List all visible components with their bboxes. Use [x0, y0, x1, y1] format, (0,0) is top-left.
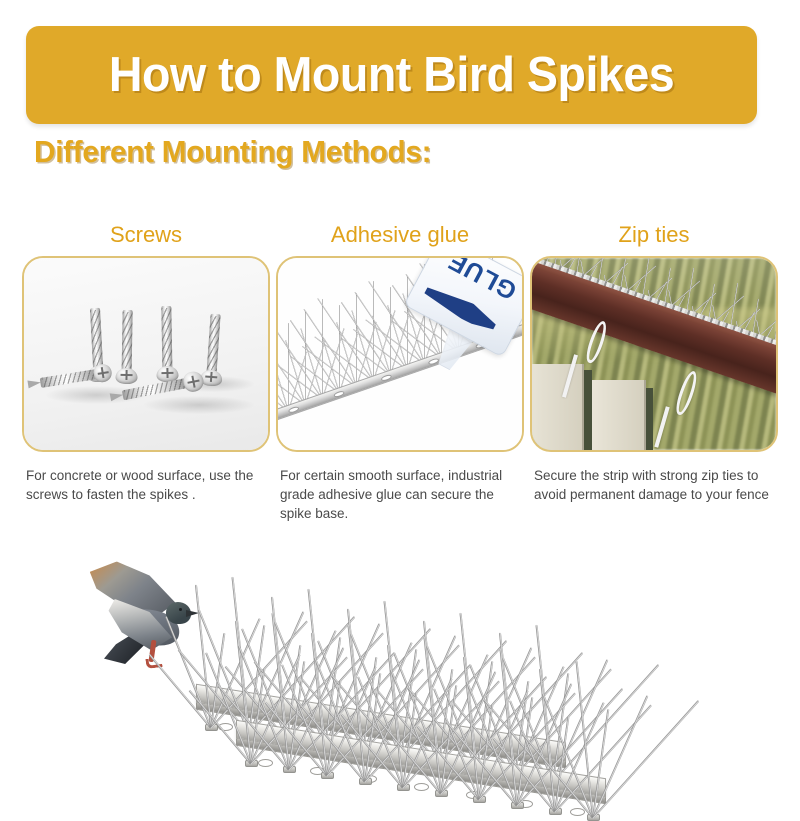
spike-cluster: [210, 726, 212, 728]
method-caption-zip-ties: Secure the strip with strong zip ties to…: [530, 466, 778, 504]
spike-cluster: [592, 816, 594, 818]
section-subheading: Different Mounting Methods:: [34, 134, 431, 170]
method-title-screws: Screws: [22, 222, 270, 248]
spike-cluster: [402, 786, 404, 788]
method-card-screws: Screws: [22, 222, 270, 523]
spike-wire: [356, 293, 357, 387]
mounting-methods-row: Screws: [0, 222, 800, 523]
spike-wire: [373, 281, 374, 381]
method-title-zip-ties: Zip ties: [530, 222, 778, 248]
spike-cluster: [326, 774, 328, 776]
spike-cluster: [288, 768, 290, 770]
mounting-hole: [258, 759, 273, 767]
screws-photo: [24, 258, 268, 450]
spike-cluster: [364, 780, 366, 782]
page-title: How to Mount Bird Spikes: [109, 47, 674, 103]
spike-wire: [288, 323, 289, 411]
spike-wire: [339, 305, 340, 393]
bird-spike-strip: [236, 580, 616, 780]
spike-wire: [592, 700, 699, 818]
photo-frame-adhesive-glue: GLUE: [276, 256, 524, 452]
method-title-adhesive-glue: Adhesive glue: [276, 222, 524, 248]
title-banner: How to Mount Bird Spikes: [26, 26, 757, 124]
spike-cluster: [478, 798, 480, 800]
mounting-hole: [414, 783, 429, 791]
spike-wire: [407, 276, 408, 370]
photo-frame-zip-ties: [530, 256, 778, 452]
method-card-zip-ties: Zip ties Secure the strip with strong zi…: [530, 222, 778, 523]
method-card-adhesive-glue: Adhesive glue GLUE Fo: [276, 222, 524, 523]
mounting-hole: [570, 808, 585, 816]
pigeon-eye: [179, 608, 182, 611]
photo-frame-screws: [22, 256, 270, 452]
method-caption-adhesive-glue: For certain smooth surface, industrial g…: [276, 466, 524, 523]
method-caption-screws: For concrete or wood surface, use the sc…: [22, 466, 270, 504]
glue-photo: GLUE: [278, 258, 522, 450]
hero-product-image: [0, 536, 800, 800]
spike-cluster: [516, 804, 518, 806]
spike-cluster: [250, 762, 252, 764]
spike-cluster: [554, 810, 556, 812]
spike-wire: [390, 287, 391, 375]
spike-wire: [305, 311, 306, 405]
spike-cluster: [440, 792, 442, 794]
